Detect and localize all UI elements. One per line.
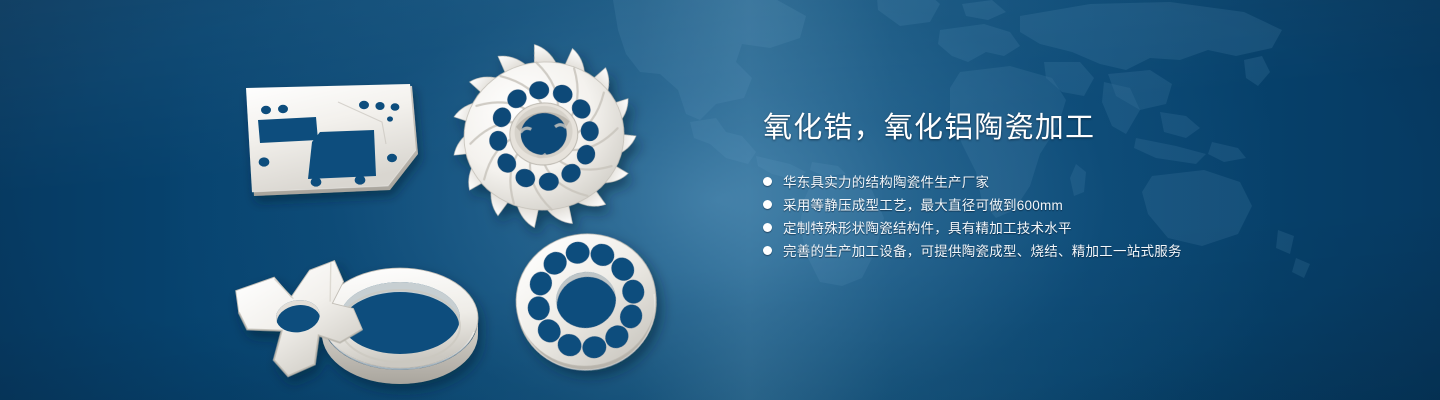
- feature-text: 完善的生产加工设备，可提供陶瓷成型、烧结、精加工一站式服务: [783, 240, 1182, 260]
- ceramic-impeller-image: [444, 44, 644, 234]
- feature-list: 华东具实力的结构陶瓷件生产厂家 采用等静压成型工艺，最大直径可做到600mm 定…: [763, 170, 1383, 261]
- bullet-dot-icon: [763, 246, 772, 255]
- promo-banner: 氧化锆，氧化铝陶瓷加工 华东具实力的结构陶瓷件生产厂家 采用等静压成型工艺，最大…: [0, 0, 1440, 400]
- product-photo-group: [232, 38, 692, 378]
- bullet-dot-icon: [763, 200, 772, 209]
- feature-text: 华东具实力的结构陶瓷件生产厂家: [783, 171, 989, 191]
- bullet-dot-icon: [763, 223, 772, 232]
- feature-text: 采用等静压成型工艺，最大直径可做到600mm: [783, 194, 1063, 214]
- list-item: 完善的生产加工设备，可提供陶瓷成型、烧结、精加工一站式服务: [763, 239, 1383, 261]
- banner-copy: 氧化锆，氧化铝陶瓷加工 华东具实力的结构陶瓷件生产厂家 采用等静压成型工艺，最大…: [763, 108, 1383, 261]
- list-item: 华东具实力的结构陶瓷件生产厂家: [763, 170, 1383, 192]
- ceramic-plate-image: [242, 84, 432, 204]
- feature-text: 定制特殊形状陶瓷结构件，具有精加工技术水平: [783, 217, 1072, 237]
- list-item: 采用等静压成型工艺，最大直径可做到600mm: [763, 193, 1383, 215]
- ceramic-perforated-disc-image: [510, 226, 665, 378]
- list-item: 定制特殊形状陶瓷结构件，具有精加工技术水平: [763, 216, 1383, 238]
- ceramic-cross-and-ring-image: [232, 228, 502, 393]
- bullet-dot-icon: [763, 177, 772, 186]
- page-title: 氧化锆，氧化铝陶瓷加工: [763, 108, 1383, 148]
